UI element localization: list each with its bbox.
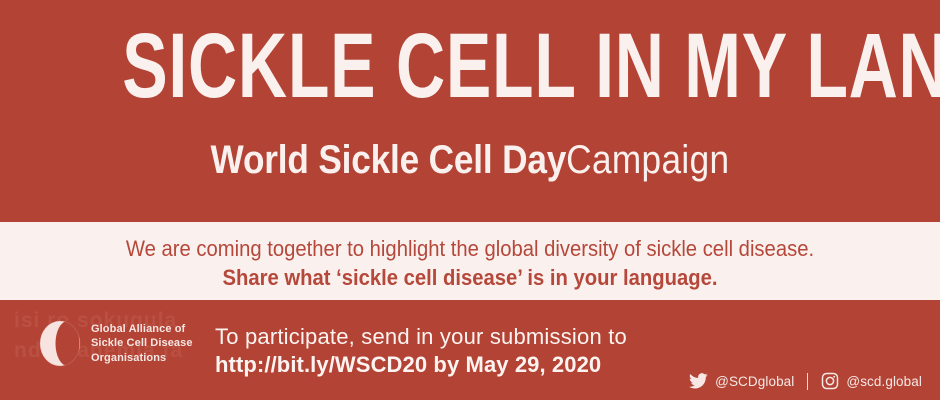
participate-instructions: To participate, send in your submission … [215,323,627,379]
organisation-name-line-2: Sickle Cell Disease [91,336,193,351]
subtitle: World Sickle Cell DayCampaign [56,136,883,184]
organisation-name-line-1: Global Alliance of [91,322,193,337]
participate-line-1: To participate, send in your submission … [215,323,627,351]
twitter-icon [689,373,708,389]
twitter-handle: @SCDglobal [715,374,794,389]
gasco-circle-logo-icon [38,320,82,367]
social-links: @SCDglobal @scd.global [689,370,922,392]
organisation-name-line-3: Organisations [91,351,193,366]
instagram-handle: @scd.global [846,374,922,389]
band-message-line-1: We are coming together to highlight the … [38,236,903,262]
band-message-line-2: Share what ‘sickle cell disease’ is in y… [38,265,903,291]
participate-line-2[interactable]: http://bit.ly/WSCD20 by May 29, 2020 [215,351,627,379]
organisation-logo-block: Global Alliance of Sickle Cell Disease O… [38,320,193,367]
social-link-instagram[interactable]: @scd.global [821,372,922,390]
headline-title: SICKLE CELL IN MY LANGUAGE [122,18,818,114]
subtitle-light: Campaign [566,138,729,182]
organisation-name: Global Alliance of Sickle Cell Disease O… [91,322,193,366]
social-separator [807,373,808,390]
subtitle-bold: World Sickle Cell Day [211,138,567,182]
message-band: We are coming together to highlight the … [0,222,940,300]
social-link-twitter[interactable]: @SCDglobal [689,373,794,389]
instagram-icon [821,372,839,390]
campaign-banner: isi ro sokugula ndrepanemia fa SICKLE CE… [0,0,940,400]
